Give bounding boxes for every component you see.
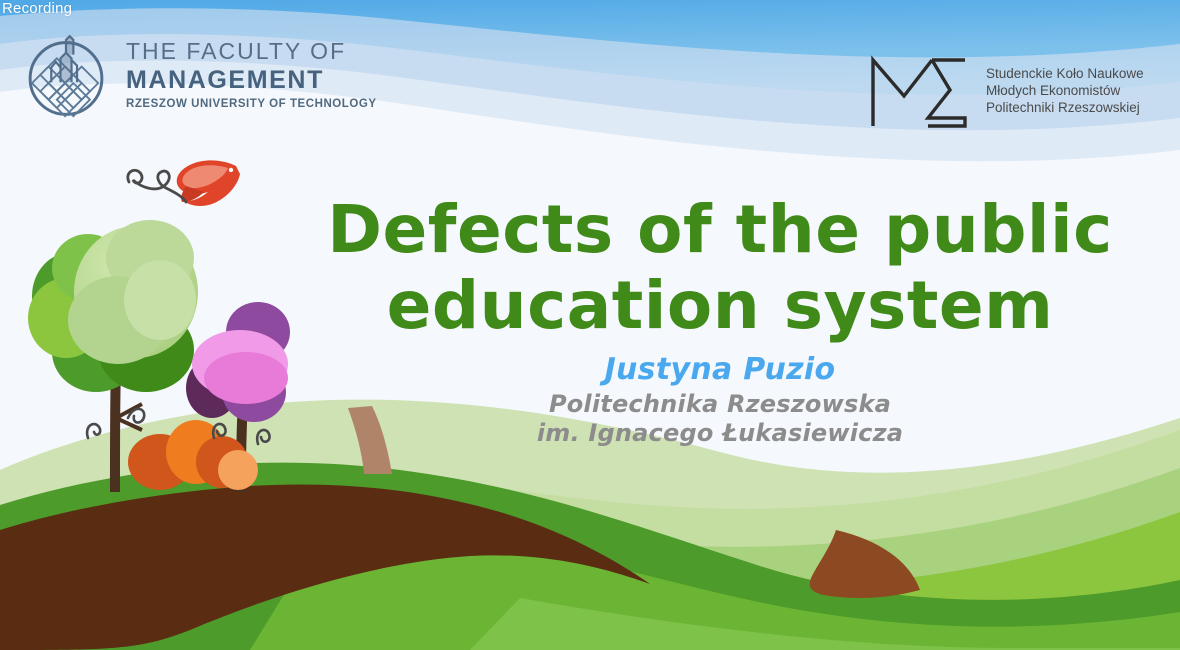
faculty-logo: THE FACULTY OF MANAGEMENT RZESZOW UNIVER… (20, 27, 377, 119)
presentation-slide: Recording (0, 0, 1180, 650)
bird-eye (229, 168, 233, 172)
skn-text: Studenckie Koło Naukowe Młodych Ekonomis… (986, 52, 1144, 116)
faculty-line-1: THE FACULTY OF (126, 40, 377, 63)
university-emblem-icon (20, 27, 112, 119)
page-title-line-2: education system (300, 268, 1140, 344)
tree-purple-pink-2 (204, 352, 288, 404)
skn-line-1: Studenckie Koło Naukowe (986, 65, 1144, 82)
author-name: Justyna Puzio (300, 352, 1140, 388)
faculty-line-2: MANAGEMENT (126, 68, 377, 93)
title-block: Defects of the public education system J… (300, 192, 1140, 448)
skn-logo: Studenckie Koło Naukowe Młodych Ekonomis… (866, 52, 1144, 130)
skn-line-2: Młodych Ekonomistów (986, 82, 1144, 99)
faculty-line-3: RZESZOW UNIVERSITY OF TECHNOLOGY (126, 99, 377, 111)
affiliation-line-1: Politechnika Rzeszowska (300, 390, 1140, 419)
bush-lobe-light (218, 450, 258, 490)
affiliation-line-2: im. Ignacego Łukasiewicza (300, 419, 1140, 448)
recording-indicator: Recording (0, 0, 78, 20)
faculty-wordmark: THE FACULTY OF MANAGEMENT RZESZOW UNIVER… (126, 36, 377, 111)
tree-green-highlight-3 (124, 260, 196, 340)
me-monogram-icon (866, 52, 970, 130)
page-title-line-1: Defects of the public (300, 192, 1140, 268)
skn-line-3: Politechniki Rzeszowskiej (986, 99, 1144, 116)
